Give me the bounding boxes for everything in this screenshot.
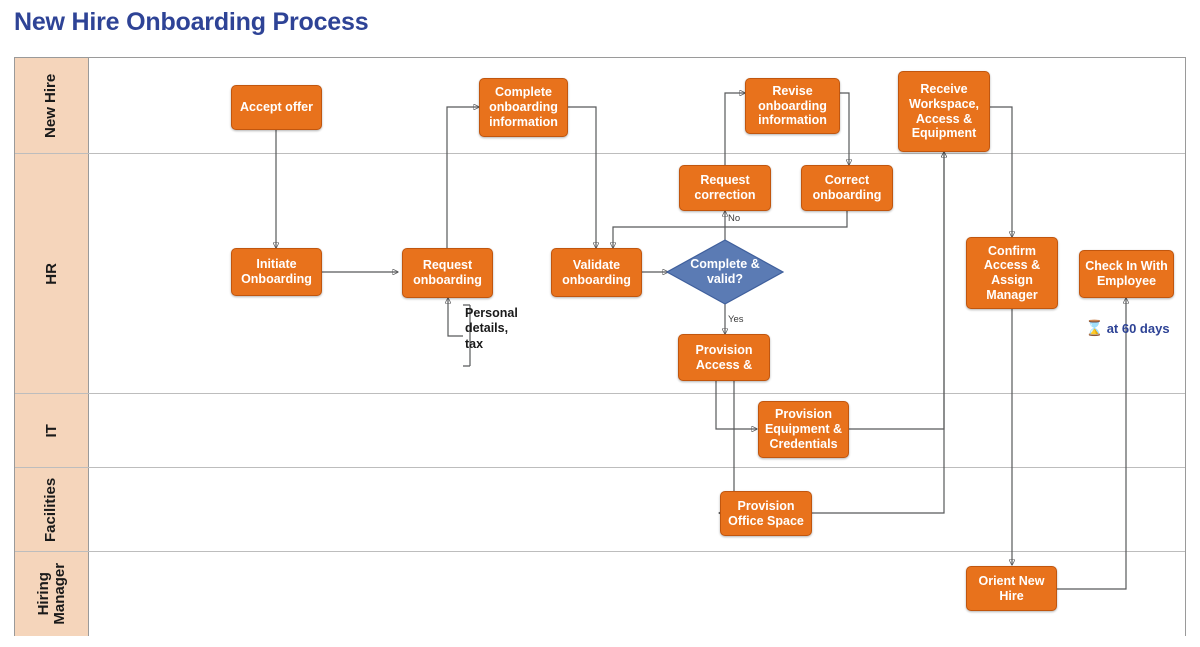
lane-header-facilities: Facilities bbox=[15, 468, 89, 551]
edge-label-no: No bbox=[728, 213, 740, 224]
lane-label-hiring-manager: HiringManager bbox=[36, 563, 68, 625]
timer-callout-label: at 60 days bbox=[1107, 321, 1170, 336]
node-label-provision-equipment-credentials: Provision Equipment & Credentials bbox=[764, 407, 843, 451]
node-complete-and-valid-decision[interactable]: Complete & valid? bbox=[666, 239, 784, 305]
node-request-onboarding[interactable]: Request onboarding bbox=[402, 248, 493, 298]
node-complete-onboarding-information[interactable]: Complete onboarding information bbox=[479, 78, 568, 137]
edge-label-text-no: No bbox=[728, 213, 740, 224]
node-label-revise-onboarding-information: Revise onboarding information bbox=[751, 84, 834, 128]
swimlane-new-hire: New Hire bbox=[15, 58, 1185, 154]
node-label-orient-new-hire: Orient New Hire bbox=[972, 574, 1051, 604]
node-label-validate-onboarding: Validate onboarding bbox=[557, 258, 636, 288]
lane-body-facilities bbox=[89, 468, 1185, 551]
node-label-check-in-with-employee: Check In With Employee bbox=[1085, 259, 1168, 289]
lane-header-new-hire: New Hire bbox=[15, 58, 89, 153]
swimlane-it: IT bbox=[15, 394, 1185, 468]
node-label-accept-offer: Accept offer bbox=[240, 100, 313, 115]
node-orient-new-hire[interactable]: Orient New Hire bbox=[966, 566, 1057, 611]
node-provision-equipment-credentials[interactable]: Provision Equipment & Credentials bbox=[758, 401, 849, 458]
node-provision-office-space[interactable]: Provision Office Space bbox=[720, 491, 812, 536]
lane-header-hr: HR bbox=[15, 154, 89, 393]
node-request-correction[interactable]: Request correction bbox=[679, 165, 771, 211]
annotation-text-personal-details-tax: Personal details, tax bbox=[465, 306, 518, 351]
swimlane-facilities: Facilities bbox=[15, 468, 1185, 552]
node-label-provision-office-space: Provision Office Space bbox=[726, 499, 806, 529]
lane-header-it: IT bbox=[15, 394, 89, 467]
node-revise-onboarding-information[interactable]: Revise onboarding information bbox=[745, 78, 840, 134]
lane-body-it bbox=[89, 394, 1185, 467]
lane-label-it: IT bbox=[44, 424, 60, 437]
hourglass-icon: ⌛ bbox=[1085, 321, 1104, 336]
lane-label-new-hire: New Hire bbox=[44, 73, 60, 137]
node-check-in-with-employee[interactable]: Check In With Employee bbox=[1079, 250, 1174, 298]
page-title: New Hire Onboarding Process bbox=[14, 8, 368, 37]
node-label-receive-workspace-access-equipment: Receive Workspace, Access & Equipment bbox=[904, 82, 984, 141]
node-label-confirm-access-assign-manager: Confirm Access & Assign Manager bbox=[972, 244, 1052, 303]
timer-callout-at-60-days: ⌛ at 60 days bbox=[1085, 321, 1170, 336]
node-label-complete-onboarding-information: Complete onboarding information bbox=[485, 85, 562, 129]
node-label-request-correction: Request correction bbox=[685, 173, 765, 203]
node-correct-onboarding[interactable]: Correct onboarding bbox=[801, 165, 893, 211]
node-label-correct-onboarding: Correct onboarding bbox=[807, 173, 887, 203]
lane-label-facilities: Facilities bbox=[44, 477, 60, 541]
node-label-request-onboarding: Request onboarding bbox=[408, 258, 487, 288]
node-confirm-access-assign-manager[interactable]: Confirm Access & Assign Manager bbox=[966, 237, 1058, 309]
node-validate-onboarding[interactable]: Validate onboarding bbox=[551, 248, 642, 297]
node-label-complete-and-valid-decision: Complete & valid? bbox=[671, 257, 779, 287]
lane-header-hiring-manager: HiringManager bbox=[15, 552, 89, 636]
swimlane-frame: New Hire HR IT Facilities HiringManager bbox=[14, 57, 1186, 636]
lane-label-hr: HR bbox=[44, 263, 60, 285]
edge-label-yes: Yes bbox=[728, 314, 744, 325]
node-label-provision-access: Provision Access & bbox=[684, 343, 764, 373]
annotation-personal-details-tax: Personal details, tax bbox=[465, 306, 529, 352]
node-receive-workspace-access-equipment[interactable]: Receive Workspace, Access & Equipment bbox=[898, 71, 990, 152]
node-provision-access[interactable]: Provision Access & bbox=[678, 334, 770, 381]
edge-label-text-yes: Yes bbox=[728, 314, 744, 325]
flowchart-page: New Hire Onboarding Process New Hire HR … bbox=[0, 0, 1200, 647]
node-label-initiate-onboarding: Initiate Onboarding bbox=[237, 257, 316, 287]
node-initiate-onboarding[interactable]: Initiate Onboarding bbox=[231, 248, 322, 296]
node-accept-offer[interactable]: Accept offer bbox=[231, 85, 322, 130]
